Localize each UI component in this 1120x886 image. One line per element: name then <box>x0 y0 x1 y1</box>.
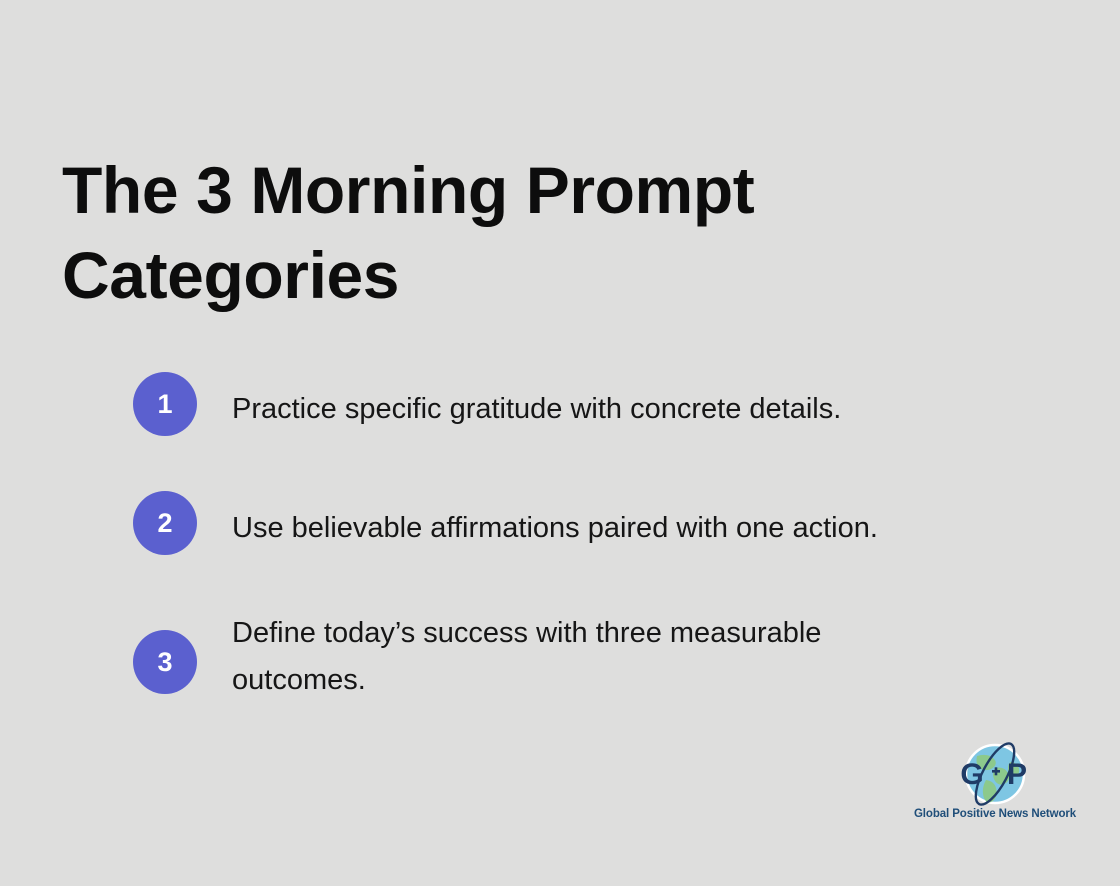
list-item: 3 Define today’s success with three meas… <box>133 610 1013 704</box>
svg-text:P: P <box>1007 758 1027 791</box>
list-item-badge-3: 3 <box>133 630 197 694</box>
list-item-badge-1: 1 <box>133 372 197 436</box>
globe-gp-icon: G P <box>955 742 1035 808</box>
slide-canvas: The 3 Morning Prompt Categories 1 Practi… <box>0 0 1120 886</box>
brand-logo: G P Global Positive News Network <box>905 742 1085 828</box>
list-item: 2 Use believable affirmations paired wit… <box>133 491 1013 555</box>
page-title: The 3 Morning Prompt Categories <box>62 148 922 317</box>
list-item-text-1: Practice specific gratitude with concret… <box>232 372 841 433</box>
list-item-text-3: Define today’s success with three measur… <box>232 610 932 704</box>
list-item-badge-2: 2 <box>133 491 197 555</box>
numbered-list: 1 Practice specific gratitude with concr… <box>133 372 1013 704</box>
list-item-text-2: Use believable affirmations paired with … <box>232 491 878 552</box>
svg-text:G: G <box>960 758 983 791</box>
list-item: 1 Practice specific gratitude with concr… <box>133 372 1013 436</box>
logo-tagline: Global Positive News Network <box>905 808 1085 820</box>
